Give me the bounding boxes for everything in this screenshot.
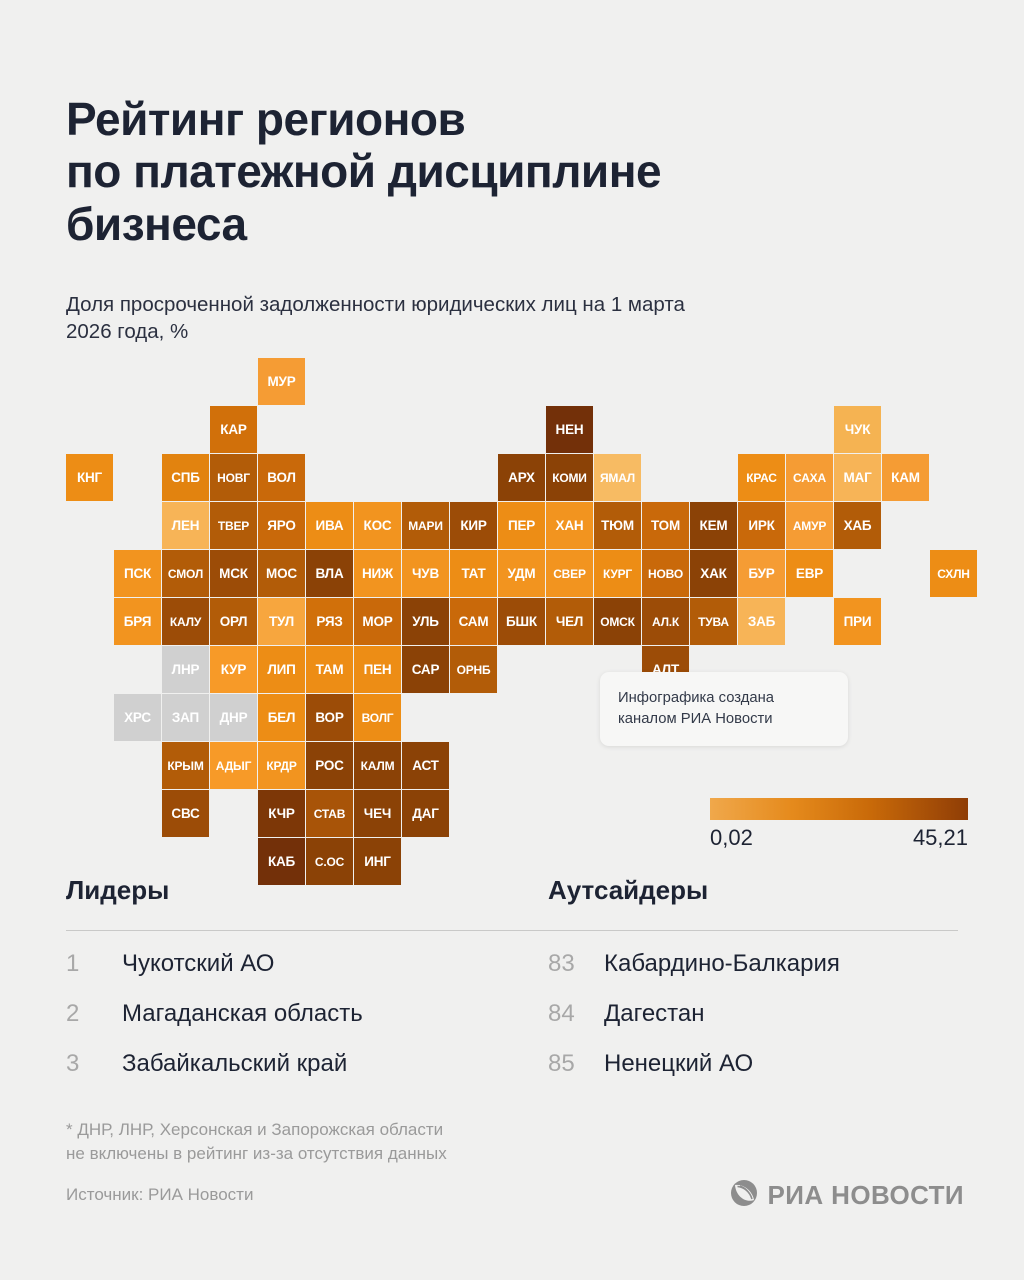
section-divider xyxy=(66,930,958,931)
map-tile-АЛ.К: АЛ.К xyxy=(642,598,689,645)
map-tile-label: МОС xyxy=(266,567,297,581)
map-tile-ЗАБ: ЗАБ xyxy=(738,598,785,645)
map-tile-label: САХА xyxy=(793,472,826,484)
map-tile-label: КАБ xyxy=(268,855,295,869)
map-tile-label: УДМ xyxy=(508,567,536,581)
map-tile-КИР: КИР xyxy=(450,502,497,549)
map-tile-ЧУК: ЧУК xyxy=(834,406,881,453)
map-tile-label: БРЯ xyxy=(124,615,151,629)
map-tile-label: СХЛН xyxy=(937,568,970,580)
map-tile-СМОЛ: СМОЛ xyxy=(162,550,209,597)
map-tile-ЧУВ: ЧУВ xyxy=(402,550,449,597)
map-tile-label: ВОР xyxy=(315,711,343,725)
map-tile-ЯМАЛ: ЯМАЛ xyxy=(594,454,641,501)
leader-row: 1Чукотский АО xyxy=(66,950,536,1000)
map-tile-label: КУР xyxy=(221,663,246,677)
map-tile-АРХ: АРХ xyxy=(498,454,545,501)
map-tile-С.ОС: С.ОС xyxy=(306,838,353,885)
map-tile-label: КУРГ xyxy=(603,568,632,580)
map-tile-label: ОМСК xyxy=(600,616,635,628)
map-tile-МОР: МОР xyxy=(354,598,401,645)
map-tile-КОС: КОС xyxy=(354,502,401,549)
color-legend: 0,02 45,21 xyxy=(710,798,968,851)
map-tile-ПЕН: ПЕН xyxy=(354,646,401,693)
map-tile-label: КАР xyxy=(220,423,246,437)
ria-novosti-logo: РИА НОВОСТИ xyxy=(729,1178,964,1213)
map-tile-РОС: РОС xyxy=(306,742,353,789)
ria-sphere-icon xyxy=(729,1178,759,1213)
map-tile-label: КАМ xyxy=(891,471,920,485)
map-tile-ТВЕР: ТВЕР xyxy=(210,502,257,549)
leader-rank-number: 1 xyxy=(66,950,122,978)
map-tile-label: ОРЛ xyxy=(220,615,248,629)
map-tile-МОС: МОС xyxy=(258,550,305,597)
leaders-list: 1Чукотский АО2Магаданская область3Забайк… xyxy=(66,950,536,1100)
map-tile-label: ЛИП xyxy=(267,663,295,677)
map-tile-КЧР: КЧР xyxy=(258,790,305,837)
map-tile-АДЫГ: АДЫГ xyxy=(210,742,257,789)
map-tile-label: ХАН xyxy=(556,519,584,533)
outsider-region-name: Ненецкий АО xyxy=(604,1050,753,1078)
map-tile-label: БЕЛ xyxy=(268,711,296,725)
map-tile-ВОЛ: ВОЛ xyxy=(258,454,305,501)
map-tile-ХАК: ХАК xyxy=(690,550,737,597)
outsider-row: 84Дагестан xyxy=(548,1000,1018,1050)
map-tile-СХЛН: СХЛН xyxy=(930,550,977,597)
map-tile-БРЯ: БРЯ xyxy=(114,598,161,645)
map-tile-label: ТВЕР xyxy=(218,520,249,532)
map-tile-ТУЛ: ТУЛ xyxy=(258,598,305,645)
map-tile-МСК: МСК xyxy=(210,550,257,597)
map-tile-БШК: БШК xyxy=(498,598,545,645)
map-tile-label: НИЖ xyxy=(362,567,393,581)
map-tile-КАР: КАР xyxy=(210,406,257,453)
map-tile-label: ТАМ xyxy=(316,663,344,677)
map-tile-label: ВОЛГ xyxy=(362,712,394,724)
map-tile-label: ИРК xyxy=(748,519,774,533)
map-tile-ВОР: ВОР xyxy=(306,694,353,741)
map-tile-ПЕР: ПЕР xyxy=(498,502,545,549)
map-tile-label: ЗАП xyxy=(172,711,199,725)
map-tile-КУР: КУР xyxy=(210,646,257,693)
map-tile-label: ВЛА xyxy=(315,567,343,581)
map-tile-ОМСК: ОМСК xyxy=(594,598,641,645)
map-tile-ЧЕЧ: ЧЕЧ xyxy=(354,790,401,837)
map-tile-label: СВЕР xyxy=(553,568,586,580)
outsiders-heading: Аутсайдеры xyxy=(548,875,708,906)
map-tile-УЛЬ: УЛЬ xyxy=(402,598,449,645)
map-tile-СТАВ: СТАВ xyxy=(306,790,353,837)
map-tile-label: ТЮМ xyxy=(601,519,634,533)
map-tile-label: КИР xyxy=(460,519,486,533)
page-title: Рейтинг регионов по платежной дисциплине… xyxy=(66,93,946,250)
legend-gradient-bar xyxy=(710,798,968,820)
region-tile-map: МУРКАРНЕНЧУККНГСПБНОВГВОЛАРХКОМИЯМАЛКРАС… xyxy=(0,352,1024,872)
leader-row: 2Магаданская область xyxy=(66,1000,536,1050)
leader-rank-number: 3 xyxy=(66,1050,122,1078)
map-tile-КАМ: КАМ xyxy=(882,454,929,501)
map-tile-ТОМ: ТОМ xyxy=(642,502,689,549)
map-tile-label: ТАТ xyxy=(461,567,485,581)
map-tile-label: ИНГ xyxy=(364,855,391,869)
map-tile-label: РЯЗ xyxy=(316,615,342,629)
map-tile-label: ЯМАЛ xyxy=(600,472,635,484)
map-tile-КАЛУ: КАЛУ xyxy=(162,598,209,645)
leader-region-name: Чукотский АО xyxy=(122,950,274,978)
map-tile-label: САМ xyxy=(459,615,489,629)
map-tile-ВОЛГ: ВОЛГ xyxy=(354,694,401,741)
map-tile-СПБ: СПБ xyxy=(162,454,209,501)
map-tile-label: ЧЕЧ xyxy=(364,807,391,821)
map-tile-label: КЕМ xyxy=(700,519,728,533)
map-tile-ТЮМ: ТЮМ xyxy=(594,502,641,549)
map-tile-label: КАЛУ xyxy=(170,616,201,628)
map-tile-label: АСТ xyxy=(412,759,438,773)
map-tile-МАРИ: МАРИ xyxy=(402,502,449,549)
map-tile-label: АЛ.К xyxy=(652,616,679,628)
map-tile-ПСК: ПСК xyxy=(114,550,161,597)
map-tile-ЛНР: ЛНР xyxy=(162,646,209,693)
map-tile-ЧЕЛ: ЧЕЛ xyxy=(546,598,593,645)
map-tile-НОВО: НОВО xyxy=(642,550,689,597)
map-tile-КУРГ: КУРГ xyxy=(594,550,641,597)
map-tile-ИРК: ИРК xyxy=(738,502,785,549)
map-tile-ЕВР: ЕВР xyxy=(786,550,833,597)
leader-region-name: Забайкальский край xyxy=(122,1050,347,1078)
map-tile-label: МАГ xyxy=(843,471,871,485)
map-tile-label: АДЫГ xyxy=(216,760,251,772)
map-tile-label: ЛЕН xyxy=(172,519,200,533)
map-tile-label: ПРИ xyxy=(844,615,872,629)
legend-min-label: 0,02 xyxy=(710,825,753,851)
map-tile-label: ДНР xyxy=(220,711,248,725)
outsider-region-name: Дагестан xyxy=(604,1000,705,1028)
map-tile-КНГ: КНГ xyxy=(66,454,113,501)
logo-text: РИА НОВОСТИ xyxy=(768,1180,964,1211)
map-tile-МАГ: МАГ xyxy=(834,454,881,501)
outsiders-list: 83Кабардино-Балкария84Дагестан85Ненецкий… xyxy=(548,950,1018,1100)
map-tile-label: НОВГ xyxy=(217,472,250,484)
map-tile-label: КРЫМ xyxy=(167,760,203,772)
map-tile-label: КРДР xyxy=(266,760,296,772)
outsider-region-name: Кабардино-Балкария xyxy=(604,950,840,978)
map-tile-БУР: БУР xyxy=(738,550,785,597)
map-tile-label: С.ОС xyxy=(315,856,344,868)
map-tile-label: ЕВР xyxy=(796,567,823,581)
map-tile-label: ДАГ xyxy=(412,807,438,821)
map-tile-КРЫМ: КРЫМ xyxy=(162,742,209,789)
map-tile-label: МСК xyxy=(219,567,248,581)
credit-callout: Инфографика создана каналом РИА Новости xyxy=(600,672,848,746)
map-tile-label: РОС xyxy=(315,759,343,773)
map-tile-ИВА: ИВА xyxy=(306,502,353,549)
map-tile-label: СТАВ xyxy=(314,808,345,820)
map-tile-БЕЛ: БЕЛ xyxy=(258,694,305,741)
map-tile-label: ТОМ xyxy=(651,519,680,533)
outsider-row: 83Кабардино-Балкария xyxy=(548,950,1018,1000)
map-tile-НЕН: НЕН xyxy=(546,406,593,453)
map-tile-label: КНГ xyxy=(77,471,102,485)
outsider-row: 85Ненецкий АО xyxy=(548,1050,1018,1100)
map-tile-label: ХРС xyxy=(124,711,151,725)
map-tile-label: НОВО xyxy=(648,568,683,580)
map-tile-РЯЗ: РЯЗ xyxy=(306,598,353,645)
map-tile-ХАБ: ХАБ xyxy=(834,502,881,549)
map-tile-САР: САР xyxy=(402,646,449,693)
map-tile-label: КРАС xyxy=(746,472,777,484)
map-tile-label: БУР xyxy=(748,567,774,581)
map-tile-label: УЛЬ xyxy=(412,615,438,629)
outsider-rank-number: 85 xyxy=(548,1050,604,1078)
map-tile-ТАМ: ТАМ xyxy=(306,646,353,693)
map-tile-КРДР: КРДР xyxy=(258,742,305,789)
map-tile-label: ОРНБ xyxy=(457,664,491,676)
map-tile-label: САР xyxy=(412,663,440,677)
map-tile-label: АРХ xyxy=(508,471,535,485)
map-tile-label: КЧР xyxy=(268,807,294,821)
map-tile-НОВГ: НОВГ xyxy=(210,454,257,501)
map-tile-label: НЕН xyxy=(556,423,584,437)
map-tile-label: МОР xyxy=(362,615,392,629)
map-tile-СВС: СВС xyxy=(162,790,209,837)
map-tile-КАЛМ: КАЛМ xyxy=(354,742,401,789)
map-tile-ОРЛ: ОРЛ xyxy=(210,598,257,645)
map-tile-label: ЧУК xyxy=(845,423,871,437)
map-tile-ОРНБ: ОРНБ xyxy=(450,646,497,693)
map-tile-label: ТУВА xyxy=(698,616,729,628)
map-tile-label: СПБ xyxy=(171,471,200,485)
map-tile-ЛИП: ЛИП xyxy=(258,646,305,693)
map-tile-label: ТУЛ xyxy=(269,615,294,629)
outsider-rank-number: 84 xyxy=(548,1000,604,1028)
map-tile-КЕМ: КЕМ xyxy=(690,502,737,549)
map-tile-КРАС: КРАС xyxy=(738,454,785,501)
map-tile-label: ПЕН xyxy=(364,663,392,677)
leader-row: 3Забайкальский край xyxy=(66,1050,536,1100)
map-tile-ТУВА: ТУВА xyxy=(690,598,737,645)
map-tile-МУР: МУР xyxy=(258,358,305,405)
map-tile-label: ЧЕЛ xyxy=(556,615,583,629)
leaders-heading: Лидеры xyxy=(66,875,169,906)
map-tile-САХА: САХА xyxy=(786,454,833,501)
leader-rank-number: 2 xyxy=(66,1000,122,1028)
map-tile-ТАТ: ТАТ xyxy=(450,550,497,597)
map-tile-label: ЯРО xyxy=(267,519,295,533)
map-tile-label: ЗАБ xyxy=(748,615,775,629)
legend-max-label: 45,21 xyxy=(913,825,968,851)
footnote: * ДНР, ЛНР, Херсонская и Запорожская обл… xyxy=(66,1118,686,1167)
map-tile-ДАГ: ДАГ xyxy=(402,790,449,837)
map-tile-label: МУР xyxy=(267,375,295,389)
map-tile-ПРИ: ПРИ xyxy=(834,598,881,645)
map-tile-САМ: САМ xyxy=(450,598,497,645)
map-tile-label: СМОЛ xyxy=(168,568,203,580)
map-tile-label: ХАК xyxy=(700,567,726,581)
map-tile-label: КОС xyxy=(364,519,392,533)
infographic-page: Рейтинг регионов по платежной дисциплине… xyxy=(0,0,1024,1280)
page-subtitle: Доля просроченной задолженности юридичес… xyxy=(66,291,936,346)
map-tile-label: БШК xyxy=(506,615,537,629)
map-tile-ИНГ: ИНГ xyxy=(354,838,401,885)
map-tile-label: КАЛМ xyxy=(361,760,395,772)
map-tile-АМУР: АМУР xyxy=(786,502,833,549)
map-tile-label: АМУР xyxy=(793,520,826,532)
map-tile-label: ХАБ xyxy=(844,519,872,533)
map-tile-АСТ: АСТ xyxy=(402,742,449,789)
map-tile-ЗАП: ЗАП xyxy=(162,694,209,741)
map-tile-ЯРО: ЯРО xyxy=(258,502,305,549)
map-tile-label: ПСК xyxy=(124,567,151,581)
map-tile-label: ИВА xyxy=(316,519,344,533)
map-tile-label: МАРИ xyxy=(408,520,443,532)
map-tile-ХАН: ХАН xyxy=(546,502,593,549)
map-tile-label: СВС xyxy=(171,807,199,821)
outsider-rank-number: 83 xyxy=(548,950,604,978)
map-tile-label: КОМИ xyxy=(552,472,586,484)
leader-region-name: Магаданская область xyxy=(122,1000,363,1028)
map-tile-label: ЛНР xyxy=(172,663,200,677)
map-tile-ВЛА: ВЛА xyxy=(306,550,353,597)
map-tile-ХРС: ХРС xyxy=(114,694,161,741)
map-tile-УДМ: УДМ xyxy=(498,550,545,597)
map-tile-label: ЧУВ xyxy=(412,567,439,581)
map-tile-КОМИ: КОМИ xyxy=(546,454,593,501)
map-tile-ЛЕН: ЛЕН xyxy=(162,502,209,549)
map-tile-label: ВОЛ xyxy=(267,471,295,485)
source-label: Источник: РИА Новости xyxy=(66,1185,253,1205)
map-tile-НИЖ: НИЖ xyxy=(354,550,401,597)
map-tile-ДНР: ДНР xyxy=(210,694,257,741)
map-tile-СВЕР: СВЕР xyxy=(546,550,593,597)
map-tile-label: ПЕР xyxy=(508,519,535,533)
map-tile-КАБ: КАБ xyxy=(258,838,305,885)
